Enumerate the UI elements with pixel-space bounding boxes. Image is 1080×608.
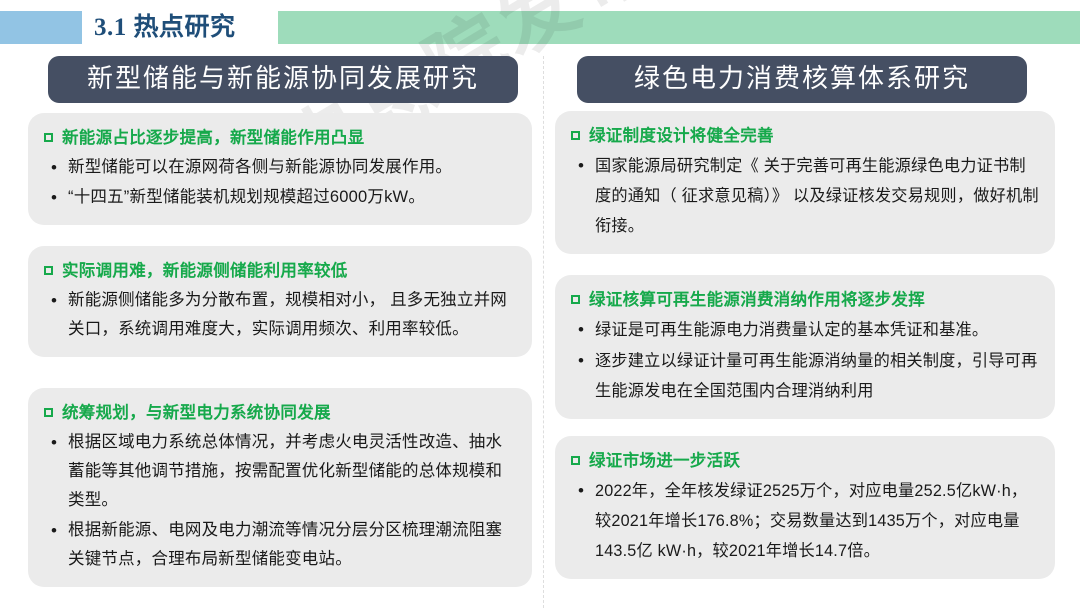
card-left-3-heading: 统筹规划，与新型电力系统协同发展 [44, 400, 516, 426]
card-right-3: 绿证市场进一步活跃 • 2022年，全年核发绿证2525万个，对应电量252.5… [555, 436, 1055, 579]
card-left-3: 统筹规划，与新型电力系统协同发展 • 根据区域电力系统总体情况，并考虑火电灵活性… [28, 388, 532, 587]
card-right-3-heading: 绿证市场进一步活跃 [571, 448, 1039, 474]
card-right-2: 绿证核算可再生能源消费消纳作用将逐步发挥 • 绿证是可再生能源电力消费量认定的基… [555, 275, 1055, 419]
list-item: • “十四五”新型储能装机规划规模超过6000万kW。 [44, 183, 516, 212]
square-outline-icon [44, 408, 53, 417]
card-right-1-bullets: • 国家能源局研究制定《 关于完善可再生能源绿色电力证书制度的通知（ 征求意见稿… [571, 151, 1039, 241]
page-title: 3.1 热点研究 [94, 12, 236, 44]
header-accent-bar-blue [0, 11, 82, 44]
list-item-text: 绿证是可再生能源电力消费量认定的基本凭证和基准。 [595, 315, 1039, 345]
right-column: 绿色电力消费核算体系研究 绿证制度设计将健全完善 • 国家能源局研究制定《 关于… [555, 56, 1055, 579]
list-item-text: 国家能源局研究制定《 关于完善可再生能源绿色电力证书制度的通知（ 征求意见稿）》… [595, 151, 1039, 241]
list-item-text: 逐步建立以绿证计量可再生能源消纳量的相关制度，引导可再生能源发电在全国范围内合理… [595, 346, 1039, 406]
card-right-1: 绿证制度设计将健全完善 • 国家能源局研究制定《 关于完善可再生能源绿色电力证书… [555, 111, 1055, 254]
square-outline-icon [44, 266, 53, 275]
card-left-2-heading: 实际调用难，新能源侧储能利用率较低 [44, 258, 516, 284]
list-item: • 绿证是可再生能源电力消费量认定的基本凭证和基准。 [571, 315, 1039, 345]
card-right-3-bullets: • 2022年，全年核发绿证2525万个，对应电量252.5亿kW·h，较202… [571, 476, 1039, 566]
square-outline-icon [44, 133, 53, 142]
list-item: • 根据区域电力系统总体情况，并考虑火电灵活性改造、抽水蓄能等其他调节措施，按需… [44, 428, 516, 515]
bullet-icon: • [44, 286, 68, 315]
list-item: • 新型储能可以在源网荷各侧与新能源协同发展作用。 [44, 153, 516, 182]
card-left-1-bullets: • 新型储能可以在源网荷各侧与新能源协同发展作用。 • “十四五”新型储能装机规… [44, 153, 516, 212]
card-left-3-bullets: • 根据区域电力系统总体情况，并考虑火电灵活性改造、抽水蓄能等其他调节措施，按需… [44, 428, 516, 574]
column-divider [543, 56, 544, 608]
card-left-2-bullets: • 新能源侧储能多为分散布置，规模相对小， 且多无独立并网关口，系统调用难度大，… [44, 286, 516, 344]
bullet-icon: • [44, 153, 68, 182]
bullet-icon: • [571, 476, 595, 506]
card-right-3-heading-text: 绿证市场进一步活跃 [589, 448, 740, 474]
list-item: • 新能源侧储能多为分散布置，规模相对小， 且多无独立并网关口，系统调用难度大，… [44, 286, 516, 344]
square-outline-icon [571, 131, 580, 140]
list-item-text: “十四五”新型储能装机规划规模超过6000万kW。 [68, 183, 516, 212]
card-left-1-heading: 新能源占比逐步提高，新型储能作用凸显 [44, 125, 516, 151]
left-column: 新型储能与新能源协同发展研究 新能源占比逐步提高，新型储能作用凸显 • 新型储能… [28, 56, 532, 587]
bullet-icon: • [44, 516, 68, 545]
list-item: • 国家能源局研究制定《 关于完善可再生能源绿色电力证书制度的通知（ 征求意见稿… [571, 151, 1039, 241]
bullet-icon: • [571, 315, 595, 345]
section-title-right: 绿色电力消费核算体系研究 [577, 56, 1027, 103]
card-left-3-heading-text: 统筹规划，与新型电力系统协同发展 [62, 400, 331, 426]
list-item: • 2022年，全年核发绿证2525万个，对应电量252.5亿kW·h，较202… [571, 476, 1039, 566]
list-item-text: 2022年，全年核发绿证2525万个，对应电量252.5亿kW·h，较2021年… [595, 476, 1039, 566]
card-right-1-heading: 绿证制度设计将健全完善 [571, 123, 1039, 149]
list-item-text: 根据新能源、电网及电力潮流等情况分层分区梳理潮流阻塞关键节点，合理布局新型储能变… [68, 516, 516, 574]
square-outline-icon [571, 456, 580, 465]
card-left-2: 实际调用难，新能源侧储能利用率较低 • 新能源侧储能多为分散布置，规模相对小， … [28, 246, 532, 357]
bullet-icon: • [44, 183, 68, 212]
card-left-1: 新能源占比逐步提高，新型储能作用凸显 • 新型储能可以在源网荷各侧与新能源协同发… [28, 113, 532, 225]
card-right-2-heading: 绿证核算可再生能源消费消纳作用将逐步发挥 [571, 287, 1039, 313]
list-item: • 根据新能源、电网及电力潮流等情况分层分区梳理潮流阻塞关键节点，合理布局新型储… [44, 516, 516, 574]
bullet-icon: • [571, 151, 595, 181]
slide-header: 3.1 热点研究 [0, 0, 1080, 52]
bullet-icon: • [571, 346, 595, 376]
header-accent-bar-green [278, 11, 1080, 44]
list-item-text: 根据区域电力系统总体情况，并考虑火电灵活性改造、抽水蓄能等其他调节措施，按需配置… [68, 428, 516, 515]
card-right-2-bullets: • 绿证是可再生能源电力消费量认定的基本凭证和基准。 • 逐步建立以绿证计量可再… [571, 315, 1039, 406]
card-right-2-heading-text: 绿证核算可再生能源消费消纳作用将逐步发挥 [589, 287, 925, 313]
square-outline-icon [571, 295, 580, 304]
list-item-text: 新能源侧储能多为分散布置，规模相对小， 且多无独立并网关口，系统调用难度大，实际… [68, 286, 516, 344]
section-title-left: 新型储能与新能源协同发展研究 [48, 56, 518, 103]
list-item-text: 新型储能可以在源网荷各侧与新能源协同发展作用。 [68, 153, 516, 182]
list-item: • 逐步建立以绿证计量可再生能源消纳量的相关制度，引导可再生能源发电在全国范围内… [571, 346, 1039, 406]
card-right-1-heading-text: 绿证制度设计将健全完善 [589, 123, 774, 149]
card-left-1-heading-text: 新能源占比逐步提高，新型储能作用凸显 [62, 125, 364, 151]
card-left-2-heading-text: 实际调用难，新能源侧储能利用率较低 [62, 258, 348, 284]
bullet-icon: • [44, 428, 68, 457]
